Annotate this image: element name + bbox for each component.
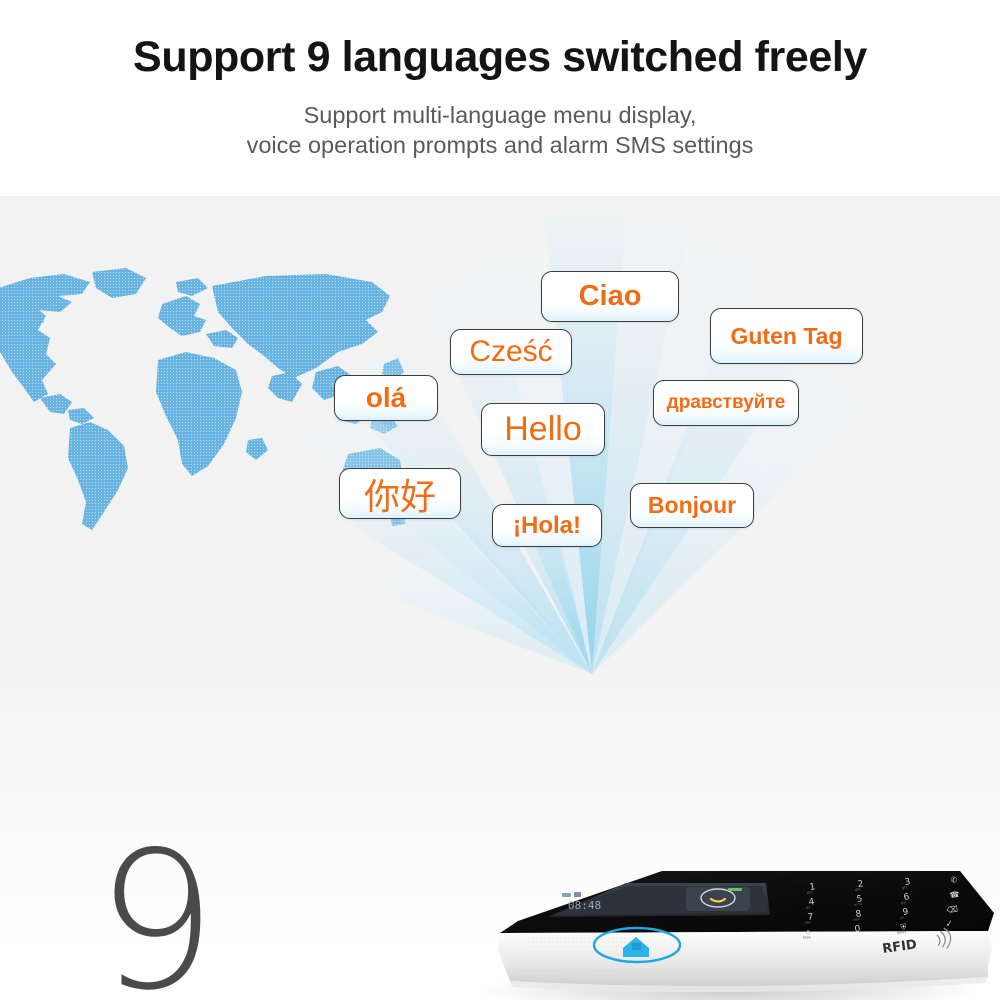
bubble-hello: Hello <box>481 403 605 456</box>
subtitle-line-1: Support multi-language menu display, <box>0 101 1000 131</box>
bubble-bonjour: Bonjour <box>630 483 754 528</box>
svg-text:stu: stu <box>805 920 811 925</box>
alarm-panel-device: 08:48 1 2 3 <box>440 841 1000 1000</box>
page-subtitle: Support multi-language menu display, voi… <box>0 101 1000 161</box>
svg-text:✓: ✓ <box>945 919 954 930</box>
bubble-czesc: Cześć <box>450 329 572 375</box>
svg-text:⌫: ⌫ <box>946 904 958 914</box>
subtitle-line-2: voice operation prompts and alarm SMS se… <box>0 131 1000 161</box>
page-title: Support 9 languages switched freely <box>0 0 1000 79</box>
svg-text:ghi: ghi <box>902 885 908 890</box>
bubble-guten-tag: Guten Tag <box>710 308 863 364</box>
svg-text:☎: ☎ <box>949 890 960 900</box>
bubble-zdravstvuyte: дравствуйте <box>653 380 799 426</box>
svg-text:jkl: jkl <box>805 905 811 910</box>
bubble-ciao: Ciao <box>541 271 679 322</box>
illustration-stage: CiaoGuten TagCześćдравствуйтеoláHello你好B… <box>0 196 1000 1000</box>
svg-text:08:48: 08:48 <box>568 899 601 912</box>
bubble-hola: ¡Hola! <box>492 504 602 547</box>
language-count-number: 9 <box>96 844 213 1000</box>
bubble-ni-hao: 你好 <box>339 468 461 519</box>
device-lcd-screen: 08:48 <box>548 883 770 917</box>
bubble-ola: olá <box>334 375 438 421</box>
svg-text:yz: yz <box>900 915 905 920</box>
page-header: Support 9 languages switched freely Supp… <box>0 0 1000 196</box>
